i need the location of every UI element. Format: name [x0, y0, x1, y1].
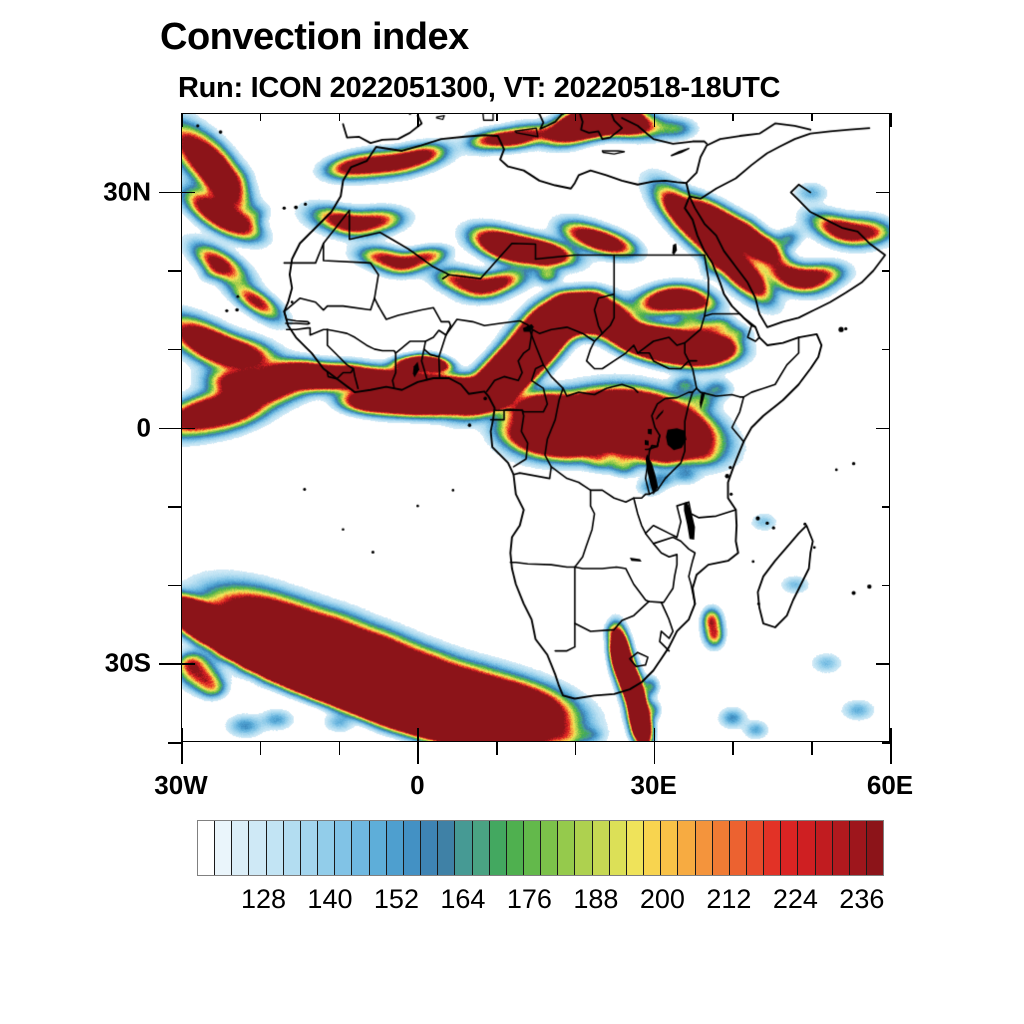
- colorbar-tick-label: 236: [839, 884, 884, 915]
- page-title: Convection index: [160, 16, 469, 59]
- colorbar-cell: [438, 821, 455, 875]
- y-minor-tick-right: [882, 506, 890, 508]
- colorbar-cell: [352, 821, 369, 875]
- x-major-tick: [654, 742, 656, 764]
- y-major-tick-right: [876, 663, 890, 665]
- x-minor-tick: [575, 742, 577, 755]
- y-major-tick-inner: [181, 428, 195, 430]
- y-minor-tick-right: [882, 270, 890, 272]
- x-major-tick-inner: [654, 728, 656, 742]
- colorbar-cell: [215, 821, 232, 875]
- y-axis-label: 0: [31, 412, 151, 443]
- colorbar-tick-label: 164: [440, 884, 485, 915]
- x-major-tick: [181, 742, 183, 764]
- y-axis-label: 30N: [31, 176, 151, 207]
- colorbar-cell: [661, 821, 678, 875]
- y-minor-tick-right: [882, 585, 890, 587]
- colorbar-cell: [490, 821, 507, 875]
- x-minor-tick-top: [339, 113, 341, 121]
- y-major-tick-right: [876, 428, 890, 430]
- colorbar-cell: [507, 821, 524, 875]
- x-minor-tick: [339, 742, 341, 755]
- colorbar-cell: [713, 821, 730, 875]
- colorbar-tick-label: 152: [374, 884, 419, 915]
- x-minor-tick-top: [811, 113, 813, 121]
- colorbar-cell: [301, 821, 318, 875]
- y-major-tick: [159, 428, 181, 430]
- colorbar-tick-label: 200: [640, 884, 685, 915]
- x-major-tick-inner: [890, 728, 892, 742]
- x-minor-tick: [260, 742, 262, 755]
- y-minor-tick-right: [882, 349, 890, 351]
- colorbar-cell: [610, 821, 627, 875]
- colorbar-cell: [387, 821, 404, 875]
- page-subtitle: Run: ICON 2022051300, VT: 20220518-18UTC: [178, 72, 780, 105]
- x-minor-tick: [732, 742, 734, 755]
- x-axis-label: 30W: [154, 770, 207, 801]
- colorbar-cell: [249, 821, 266, 875]
- colorbar-cell: [198, 821, 215, 875]
- y-minor-tick: [168, 585, 181, 587]
- colorbar-cell: [370, 821, 387, 875]
- x-minor-tick-top: [732, 113, 734, 121]
- colorbar-cell: [524, 821, 541, 875]
- colorbar-cell: [798, 821, 815, 875]
- colorbar-cell: [335, 821, 352, 875]
- colorbar-cell: [696, 821, 713, 875]
- y-minor-tick: [168, 349, 181, 351]
- colorbar-tick-label: 140: [307, 884, 352, 915]
- colorbar-cell: [833, 821, 850, 875]
- x-major-tick-inner: [181, 728, 183, 742]
- y-minor-tick-right: [882, 742, 890, 744]
- colorbar-cell: [318, 821, 335, 875]
- x-major-tick-inner: [417, 728, 419, 742]
- colorbar-cell: [627, 821, 644, 875]
- map-plot-area[interactable]: [181, 113, 890, 742]
- colorbar-cell: [730, 821, 747, 875]
- y-axis-label: 30S: [31, 648, 151, 679]
- x-major-tick-top: [181, 113, 183, 127]
- colorbar-cell: [541, 821, 558, 875]
- colorbar-cell: [558, 821, 575, 875]
- y-major-tick: [159, 192, 181, 194]
- x-minor-tick-top: [496, 113, 498, 121]
- colorbar-cell: [850, 821, 867, 875]
- x-major-tick: [890, 742, 892, 764]
- x-axis-label: 0: [410, 770, 424, 801]
- colorbar-cell: [593, 821, 610, 875]
- colorbar[interactable]: [197, 820, 884, 876]
- colorbar-tick-label: 176: [507, 884, 552, 915]
- x-major-tick-top: [654, 113, 656, 127]
- convection-index-heatmap: [182, 114, 889, 741]
- y-major-tick-inner: [181, 663, 195, 665]
- y-minor-tick: [168, 506, 181, 508]
- x-minor-tick-top: [575, 113, 577, 121]
- colorbar-tick-label: 224: [773, 884, 818, 915]
- y-minor-tick: [168, 742, 181, 744]
- x-axis-label: 30E: [631, 770, 677, 801]
- colorbar-cell: [575, 821, 592, 875]
- x-major-tick: [417, 742, 419, 764]
- colorbar-cell: [404, 821, 421, 875]
- x-axis-label: 60E: [867, 770, 913, 801]
- x-minor-tick: [496, 742, 498, 755]
- x-major-tick-top: [890, 113, 892, 127]
- colorbar-cell: [678, 821, 695, 875]
- colorbar-cell: [867, 821, 883, 875]
- colorbar-cell: [455, 821, 472, 875]
- colorbar-cell: [747, 821, 764, 875]
- colorbar-tick-label: 188: [573, 884, 618, 915]
- colorbar-cell: [764, 821, 781, 875]
- colorbar-cell: [473, 821, 490, 875]
- x-minor-tick: [811, 742, 813, 755]
- y-major-tick-inner: [181, 192, 195, 194]
- x-minor-tick-top: [260, 113, 262, 121]
- colorbar-tick-label: 212: [706, 884, 751, 915]
- colorbar-cell: [284, 821, 301, 875]
- colorbar-cell: [816, 821, 833, 875]
- colorbar-tick-label: 128: [241, 884, 286, 915]
- y-major-tick-right: [876, 192, 890, 194]
- x-major-tick-top: [417, 113, 419, 127]
- colorbar-cell: [232, 821, 249, 875]
- y-major-tick: [159, 663, 181, 665]
- colorbar-cell: [421, 821, 438, 875]
- y-minor-tick: [168, 270, 181, 272]
- colorbar-cell: [781, 821, 798, 875]
- colorbar-cell: [644, 821, 661, 875]
- colorbar-cell: [267, 821, 284, 875]
